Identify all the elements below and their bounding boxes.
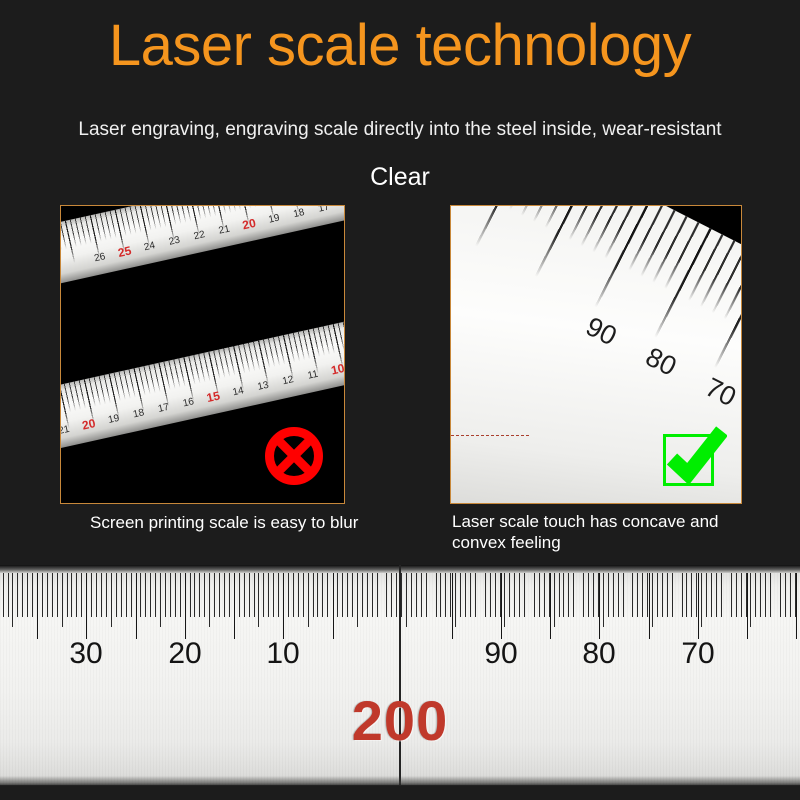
ruler-number: 18 [125, 405, 152, 421]
ruler-number: 80 [582, 637, 615, 671]
ruler-minor-tick [278, 573, 279, 617]
ruler-number: 25 [111, 244, 138, 260]
ruler-minor-tick [686, 573, 687, 617]
ruler-minor-tick [391, 573, 392, 617]
ruler-minor-tick [672, 573, 673, 617]
comparison-panel-left: 10 15 16 17 18 19 20 21 22 23 24 25 26 7… [60, 205, 345, 504]
ruler-minor-tick [150, 573, 151, 617]
ruler-number: 90 [484, 637, 517, 671]
ruler-minor-tick [534, 573, 535, 617]
page-subtitle: Laser engraving, engraving scale directl… [0, 118, 800, 142]
ruler-minor-tick [623, 573, 624, 617]
ruler-minor-tick [239, 573, 240, 617]
ruler-minor-tick [647, 573, 648, 617]
ruler-mid-tick [750, 573, 751, 627]
ruler-mid-tick [111, 573, 112, 627]
ruler-minor-tick [741, 573, 742, 617]
ruler-mid-tick [603, 573, 604, 627]
ruler-mid-tick [258, 573, 259, 627]
ruler-major-tick [283, 573, 284, 639]
ruler-major-tick [37, 573, 38, 639]
ruler-minor-tick [91, 573, 92, 617]
ruler-minor-tick [401, 573, 402, 617]
ruler-minor-tick [140, 573, 141, 617]
ruler-number: 19 [261, 211, 288, 227]
ruler-minor-tick [716, 573, 717, 617]
ruler-mid-tick [62, 573, 63, 627]
ruler-minor-tick [126, 573, 127, 617]
ruler-minor-tick [657, 573, 658, 617]
ruler-minor-tick [337, 573, 338, 617]
caption-right: Laser scale touch has concave and convex… [452, 511, 752, 553]
ruler-major-tick [333, 573, 334, 639]
ruler-major-tick [550, 573, 551, 639]
checkmark-icon [661, 426, 727, 490]
ruler-minor-tick [559, 573, 560, 617]
ruler-minor-tick [445, 573, 446, 617]
ruler-minor-tick [199, 573, 200, 617]
ruler-minor-tick [362, 573, 363, 617]
ruler-minor-tick [386, 573, 387, 617]
ruler-number: 10 [324, 361, 345, 377]
ruler-minor-tick [563, 573, 564, 617]
ruler-minor-tick [170, 573, 171, 617]
ruler-minor-tick [662, 573, 663, 617]
ruler-minor-tick [22, 573, 23, 617]
ruler-number: 11 [299, 367, 326, 383]
ruler-minor-tick [249, 573, 250, 617]
ruler-minor-tick [175, 573, 176, 617]
alignment-dash-line [451, 435, 529, 436]
ruler-minor-tick [396, 573, 397, 617]
ruler-minor-tick [194, 573, 195, 617]
ruler-mid-tick [308, 573, 309, 627]
ruler-minor-tick [303, 573, 304, 617]
ruler-minor-tick [514, 573, 515, 617]
ruler-number: 16 [175, 394, 202, 410]
comparison-panel-right: 60 70 80 90 [450, 205, 742, 504]
ruler-minor-tick [608, 573, 609, 617]
ruler-minor-tick [593, 573, 594, 617]
ruler-major-tick [452, 573, 453, 639]
ruler-minor-tick [131, 573, 132, 617]
ruler-number: 10 [266, 637, 299, 671]
ruler-minor-tick [770, 573, 771, 617]
footer-band [0, 786, 800, 800]
ruler-minor-tick [244, 573, 245, 617]
ruler-minor-tick [618, 573, 619, 617]
ruler-minor-tick [465, 573, 466, 617]
ruler-minor-tick [71, 573, 72, 617]
ruler-mid-tick [504, 573, 505, 627]
ruler-minor-tick [268, 573, 269, 617]
ruler-number: 15 [200, 389, 227, 405]
ruler-mid-tick [357, 573, 358, 627]
ruler-major-tick [86, 573, 87, 639]
ruler-number: 20 [75, 417, 102, 433]
ruler-mid-tick [406, 573, 407, 627]
ruler-photo-strip-top: 10 15 16 17 18 19 20 21 22 23 24 25 26 [60, 205, 345, 291]
ruler-minor-tick [691, 573, 692, 617]
ruler-number: 13 [249, 378, 276, 394]
ruler-minor-tick [342, 573, 343, 617]
ruler-minor-tick [347, 573, 348, 617]
ruler-minor-tick [426, 573, 427, 617]
ruler-minor-tick [165, 573, 166, 617]
ruler-minor-tick [57, 573, 58, 617]
ruler-minor-tick [731, 573, 732, 617]
ruler-minor-tick [352, 573, 353, 617]
ruler-minor-tick [67, 573, 68, 617]
ruler-minor-tick [539, 573, 540, 617]
ruler-minor-tick [214, 573, 215, 617]
ruler-minor-tick [27, 573, 28, 617]
ruler-number: 17 [310, 205, 337, 217]
ruler-major-tick [185, 573, 186, 639]
ruler-number: 20 [236, 217, 263, 233]
ruler-mid-tick [455, 573, 456, 627]
ruler-mid-tick [209, 573, 210, 627]
ruler-mid-tick [701, 573, 702, 627]
ruler-minor-tick [224, 573, 225, 617]
page-title: Laser scale technology [0, 14, 800, 78]
ruler-minor-tick [116, 573, 117, 617]
ruler-minor-tick [293, 573, 294, 617]
ruler-minor-tick [81, 573, 82, 617]
ruler-minor-tick [490, 573, 491, 617]
ruler-minor-tick [711, 573, 712, 617]
ruler-minor-tick [440, 573, 441, 617]
ruler-number: 24 [136, 239, 163, 255]
ruler-number: 30 [69, 637, 102, 671]
ruler-number: 16 [335, 205, 345, 211]
ruler-mid-tick [554, 573, 555, 627]
ruler-number: 20 [168, 637, 201, 671]
ruler-minor-tick [317, 573, 318, 617]
ruler-number: 18 [285, 206, 312, 222]
ruler-minor-tick [204, 573, 205, 617]
ruler-minor-tick [313, 573, 314, 617]
ruler-minor-tick [298, 573, 299, 617]
ruler-minor-tick [96, 573, 97, 617]
poster-root: Laser scale technology Laser engraving, … [0, 0, 800, 800]
ruler-minor-tick [509, 573, 510, 617]
ruler-major-tick [136, 573, 137, 639]
ruler-mid-tick [652, 573, 653, 627]
ruler-minor-tick [254, 573, 255, 617]
ruler-minor-tick [106, 573, 107, 617]
ruler-major-tick [796, 573, 797, 639]
ruler-minor-tick [288, 573, 289, 617]
ruler-minor-tick [485, 573, 486, 617]
ruler-minor-tick [583, 573, 584, 617]
ruler-minor-tick [436, 573, 437, 617]
ruler-minor-tick [101, 573, 102, 617]
ruler-minor-tick [667, 573, 668, 617]
ruler-minor-tick [613, 573, 614, 617]
ruler-minor-tick [632, 573, 633, 617]
ruler-number: 19 [100, 411, 127, 427]
ruler-major-tick [649, 573, 650, 639]
ruler-number: 21 [211, 222, 238, 238]
ruler-minor-tick [642, 573, 643, 617]
ruler-mid-tick [160, 573, 161, 627]
ruler-number: 23 [161, 233, 188, 249]
ruler-number: 26 [86, 250, 113, 266]
ruler-minor-tick [416, 573, 417, 617]
ruler-major-tick [698, 573, 699, 639]
ruler-minor-tick [327, 573, 328, 617]
cross-in-circle-icon [265, 427, 323, 485]
ruler-minor-tick [780, 573, 781, 617]
ruler-minor-tick [736, 573, 737, 617]
ruler-major-tick [501, 573, 502, 639]
ruler-major-tick [747, 573, 748, 639]
ruler-minor-tick [17, 573, 18, 617]
ruler-minor-tick [495, 573, 496, 617]
ruler-minor-tick [790, 573, 791, 617]
ruler-minor-tick [755, 573, 756, 617]
ruler-minor-tick [765, 573, 766, 617]
ruler-minor-tick [219, 573, 220, 617]
ruler-number: 12 [274, 372, 301, 388]
ruler-minor-tick [706, 573, 707, 617]
ruler-number: 70 [681, 637, 714, 671]
ruler-minor-tick [52, 573, 53, 617]
ruler-minor-tick [519, 573, 520, 617]
ruler-minor-tick [372, 573, 373, 617]
ruler-number: 14 [225, 383, 252, 399]
ruler-minor-tick [573, 573, 574, 617]
ruler-minor-tick [76, 573, 77, 617]
ruler-minor-tick [637, 573, 638, 617]
ruler-minor-tick [682, 573, 683, 617]
section-label-clear: Clear [0, 162, 800, 192]
ruler-minor-tick [8, 573, 9, 617]
ruler-minor-tick [263, 573, 264, 617]
ruler-minor-tick [180, 573, 181, 617]
ruler-minor-tick [524, 573, 525, 617]
ruler-minor-tick [721, 573, 722, 617]
ruler-minor-tick [460, 573, 461, 617]
ruler-minor-tick [475, 573, 476, 617]
ruler-minor-tick [190, 573, 191, 617]
ruler-number: 17 [150, 400, 177, 416]
caption-left: Screen printing scale is easy to blur [90, 512, 410, 533]
ruler-major-tick [599, 573, 600, 639]
ruler-length-label: 200 [0, 690, 800, 752]
ruler-minor-tick [785, 573, 786, 617]
ruler-mid-tick [12, 573, 13, 627]
ruler-minor-tick [121, 573, 122, 617]
ruler-minor-tick [544, 573, 545, 617]
ruler-minor-tick [42, 573, 43, 617]
ruler-minor-tick [588, 573, 589, 617]
ruler-minor-tick [377, 573, 378, 617]
ruler-minor-tick [229, 573, 230, 617]
ruler-minor-tick [322, 573, 323, 617]
ruler-number: 22 [186, 228, 213, 244]
ruler-major-tick [234, 573, 235, 639]
ruler-minor-tick [760, 573, 761, 617]
ruler-minor-tick [32, 573, 33, 617]
ruler-minor-tick [3, 573, 4, 617]
ruler-minor-tick [568, 573, 569, 617]
ruler-minor-tick [421, 573, 422, 617]
ruler-minor-tick [470, 573, 471, 617]
ruler-minor-tick [411, 573, 412, 617]
ruler-minor-tick [47, 573, 48, 617]
ruler-center-line [399, 565, 401, 787]
ruler-minor-tick [367, 573, 368, 617]
ruler-minor-tick [145, 573, 146, 617]
ruler-minor-tick [273, 573, 274, 617]
ruler-minor-tick [155, 573, 156, 617]
